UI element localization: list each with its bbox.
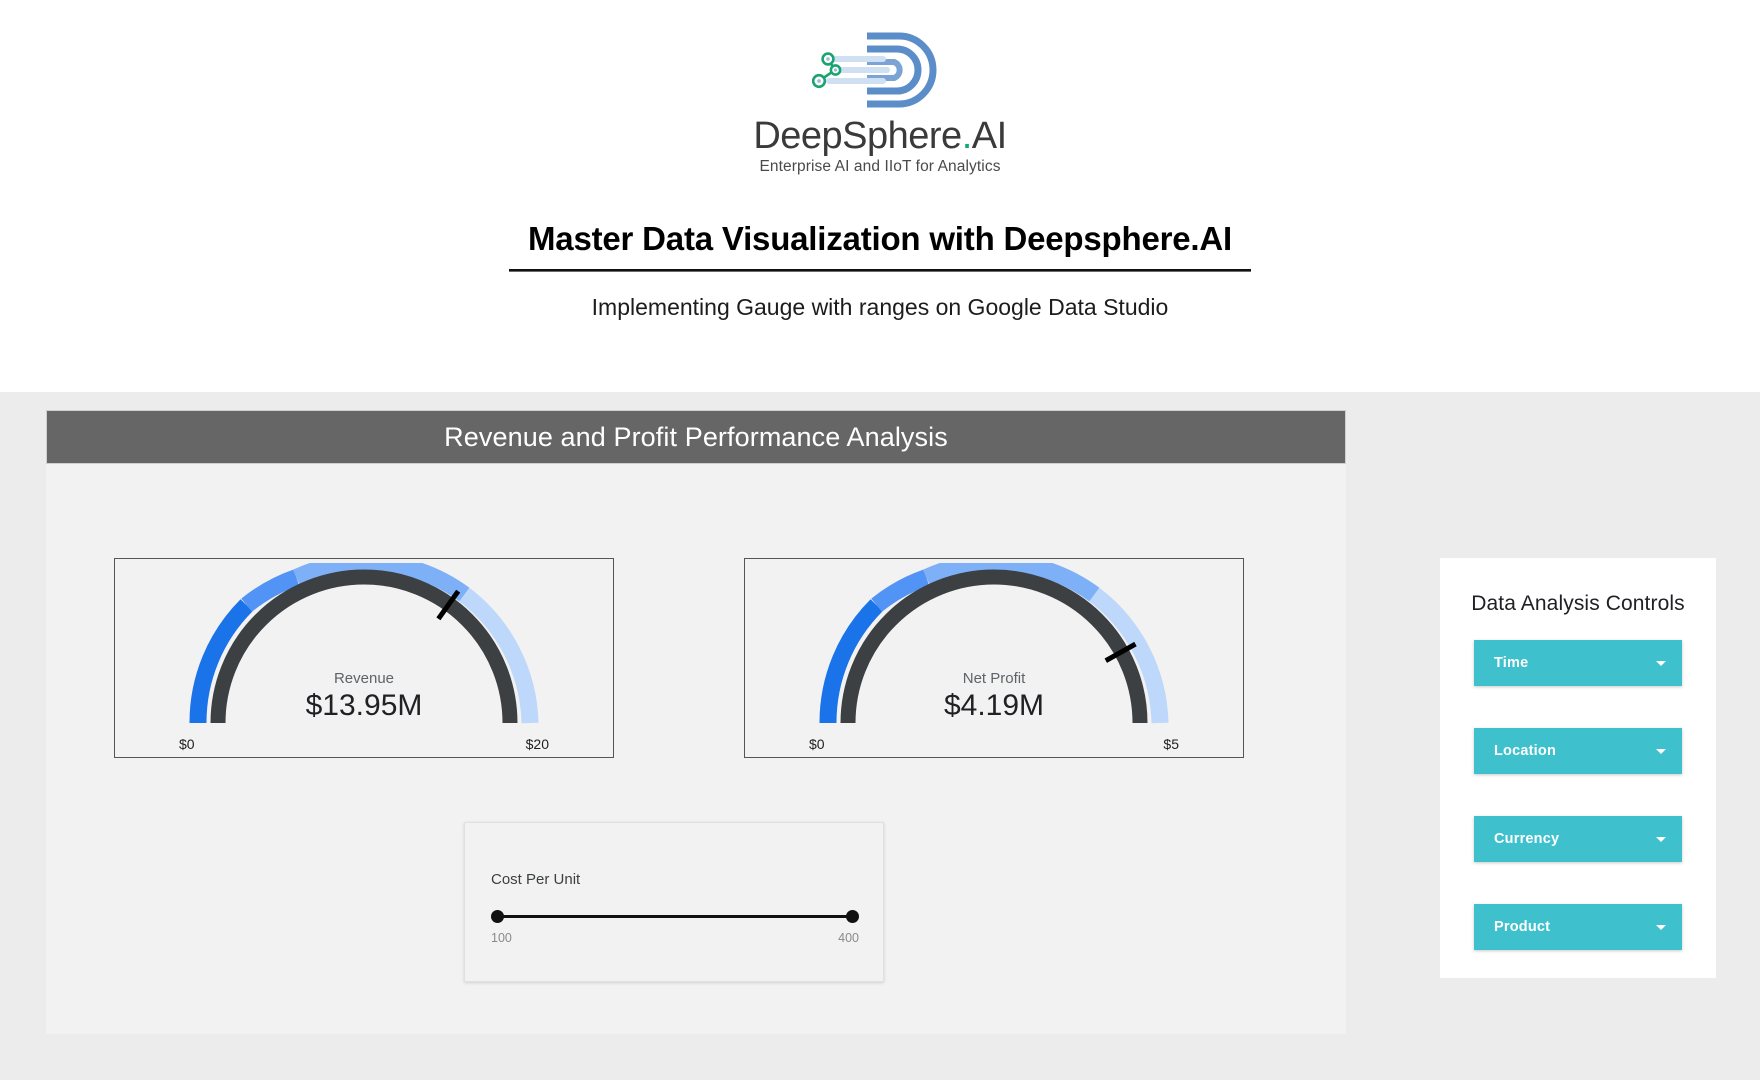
net-profit-gauge-max-label: $5	[1163, 736, 1179, 752]
dropdown-currency[interactable]: Currency	[1474, 816, 1682, 862]
controls-list: Time Location Currency Product	[1440, 640, 1716, 950]
revenue-gauge-min-label: $0	[179, 736, 195, 752]
brand-tagline: Enterprise AI and IIoT for Analytics	[759, 158, 1000, 176]
slider-track[interactable]	[496, 915, 854, 918]
chevron-down-icon	[1656, 749, 1666, 754]
cost-per-unit-label: Cost Per Unit	[491, 871, 580, 888]
slider-min-label: 100	[491, 931, 512, 945]
brand-name-part2: AI	[972, 115, 1007, 157]
dropdown-time[interactable]: Time	[1474, 640, 1682, 686]
revenue-gauge-chart	[174, 563, 554, 731]
brand-logo: DeepSphere.AI Enterprise AI and IIoT for…	[750, 28, 1010, 194]
chevron-down-icon	[1656, 661, 1666, 666]
data-analysis-controls-panel: Data Analysis Controls Time Location Cur…	[1440, 558, 1716, 978]
slider-scale: 100 400	[491, 931, 859, 945]
slider-max-label: 400	[838, 931, 859, 945]
cost-per-unit-slider-card: Cost Per Unit 100 400	[464, 822, 884, 982]
revenue-gauge-card: Revenue $13.95M $0 $20	[114, 558, 614, 758]
net-profit-gauge-chart	[804, 563, 1184, 731]
page-subtitle: Implementing Gauge with ranges on Google…	[592, 294, 1169, 321]
chevron-down-icon	[1656, 925, 1666, 930]
dashboard-header: Revenue and Profit Performance Analysis	[46, 410, 1346, 464]
slider-handle-max[interactable]	[846, 910, 859, 923]
brand-name-part1: DeepSphere	[753, 115, 961, 157]
controls-panel-title: Data Analysis Controls	[1440, 592, 1716, 616]
dropdown-product-label: Product	[1474, 919, 1550, 935]
title-divider	[509, 269, 1251, 272]
revenue-gauge-max-label: $20	[526, 736, 549, 752]
brand-wordmark: DeepSphere.AI	[753, 117, 1006, 155]
net-profit-gauge-min-label: $0	[809, 736, 825, 752]
dashboard-card: Revenue and Profit Performance Analysis	[46, 410, 1346, 1034]
dropdown-location[interactable]: Location	[1474, 728, 1682, 774]
chevron-down-icon	[1656, 837, 1666, 842]
dashboard-header-title: Revenue and Profit Performance Analysis	[444, 422, 948, 453]
dropdown-location-label: Location	[1474, 743, 1556, 759]
dropdown-time-label: Time	[1474, 655, 1528, 671]
slider-handle-min[interactable]	[491, 910, 504, 923]
cost-per-unit-slider[interactable]	[491, 909, 859, 925]
dropdown-currency-label: Currency	[1474, 831, 1559, 847]
page-header: DeepSphere.AI Enterprise AI and IIoT for…	[0, 0, 1760, 392]
dropdown-product[interactable]: Product	[1474, 904, 1682, 950]
page-title: Master Data Visualization with Deepspher…	[528, 220, 1232, 258]
deepsphere-logo-icon	[795, 28, 965, 113]
net-profit-gauge-card: Net Profit $4.19M $0 $5	[744, 558, 1244, 758]
brand-name-dot: .	[962, 115, 972, 157]
